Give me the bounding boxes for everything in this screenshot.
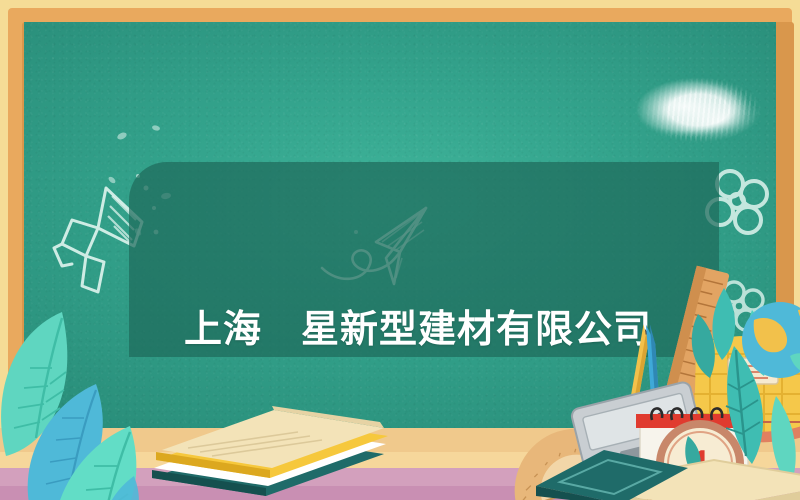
banner-image: 上海 星新型建材有限公司 （ 星新材招聘信息） (0, 0, 800, 500)
globe-icon (742, 300, 800, 390)
book-teal (532, 446, 692, 500)
book-stack-left (148, 392, 408, 500)
chalk-smudge-decoration (618, 58, 776, 166)
